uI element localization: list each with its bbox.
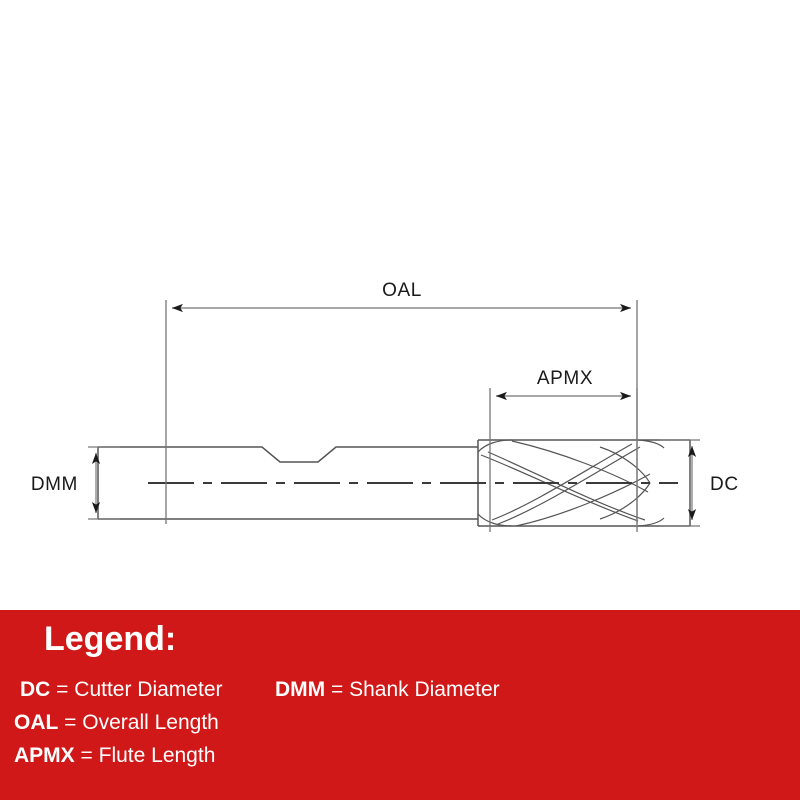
legend-abbr-apmx: APMX [14, 744, 75, 767]
legend-row: OAL = Overall Length [0, 711, 800, 744]
helix-edge-1 [481, 455, 638, 521]
corner-radius-top [638, 440, 664, 448]
legend-item-dc: DC = Cutter Diameter [20, 678, 223, 702]
end-mill-drawing-svg: OAL APMX DMM [0, 0, 800, 610]
legend-title: Legend: [44, 622, 176, 656]
dc-label: DC [710, 474, 739, 495]
legend-desc-oal: Overall Length [82, 711, 219, 734]
legend-desc-dc: Cutter Diameter [74, 678, 222, 701]
technical-drawing-area: OAL APMX DMM [0, 0, 800, 610]
dmm-label: DMM [31, 474, 78, 495]
oal-label: OAL [382, 280, 422, 301]
shank-top-edge-with-notch [98, 447, 478, 462]
legend-abbr-oal: OAL [14, 711, 58, 734]
helix-edge-3 [512, 441, 648, 492]
legend-band: Legend: DC = Cutter Diameter DMM = Shank… [0, 610, 800, 800]
flute-entry-fillet-top [478, 440, 512, 452]
legend-abbr-dc: DC [20, 678, 50, 701]
apmx-label: APMX [537, 368, 593, 389]
page-root: OAL APMX DMM [0, 0, 800, 800]
legend-item-apmx: APMX = Flute Length [14, 744, 215, 768]
dimension-apmx: APMX [490, 368, 637, 532]
legend-eq-dc: = [50, 678, 74, 701]
legend-eq-dmm: = [325, 678, 349, 701]
legend-row: DC = Cutter Diameter DMM = Shank Diamete… [0, 678, 800, 711]
legend-entries: DC = Cutter Diameter DMM = Shank Diamete… [0, 678, 800, 777]
legend-item-dmm: DMM = Shank Diameter [275, 678, 500, 702]
dimension-dmm: DMM [31, 447, 120, 519]
legend-desc-apmx: Flute Length [99, 744, 216, 767]
legend-eq-oal: = [58, 711, 82, 734]
legend-row: APMX = Flute Length [0, 744, 800, 777]
helix-edge-2 [498, 447, 640, 524]
legend-abbr-dmm: DMM [275, 678, 325, 701]
legend-desc-dmm: Shank Diameter [349, 678, 500, 701]
legend-item-oal: OAL = Overall Length [14, 711, 219, 735]
legend-eq-apmx: = [75, 744, 99, 767]
